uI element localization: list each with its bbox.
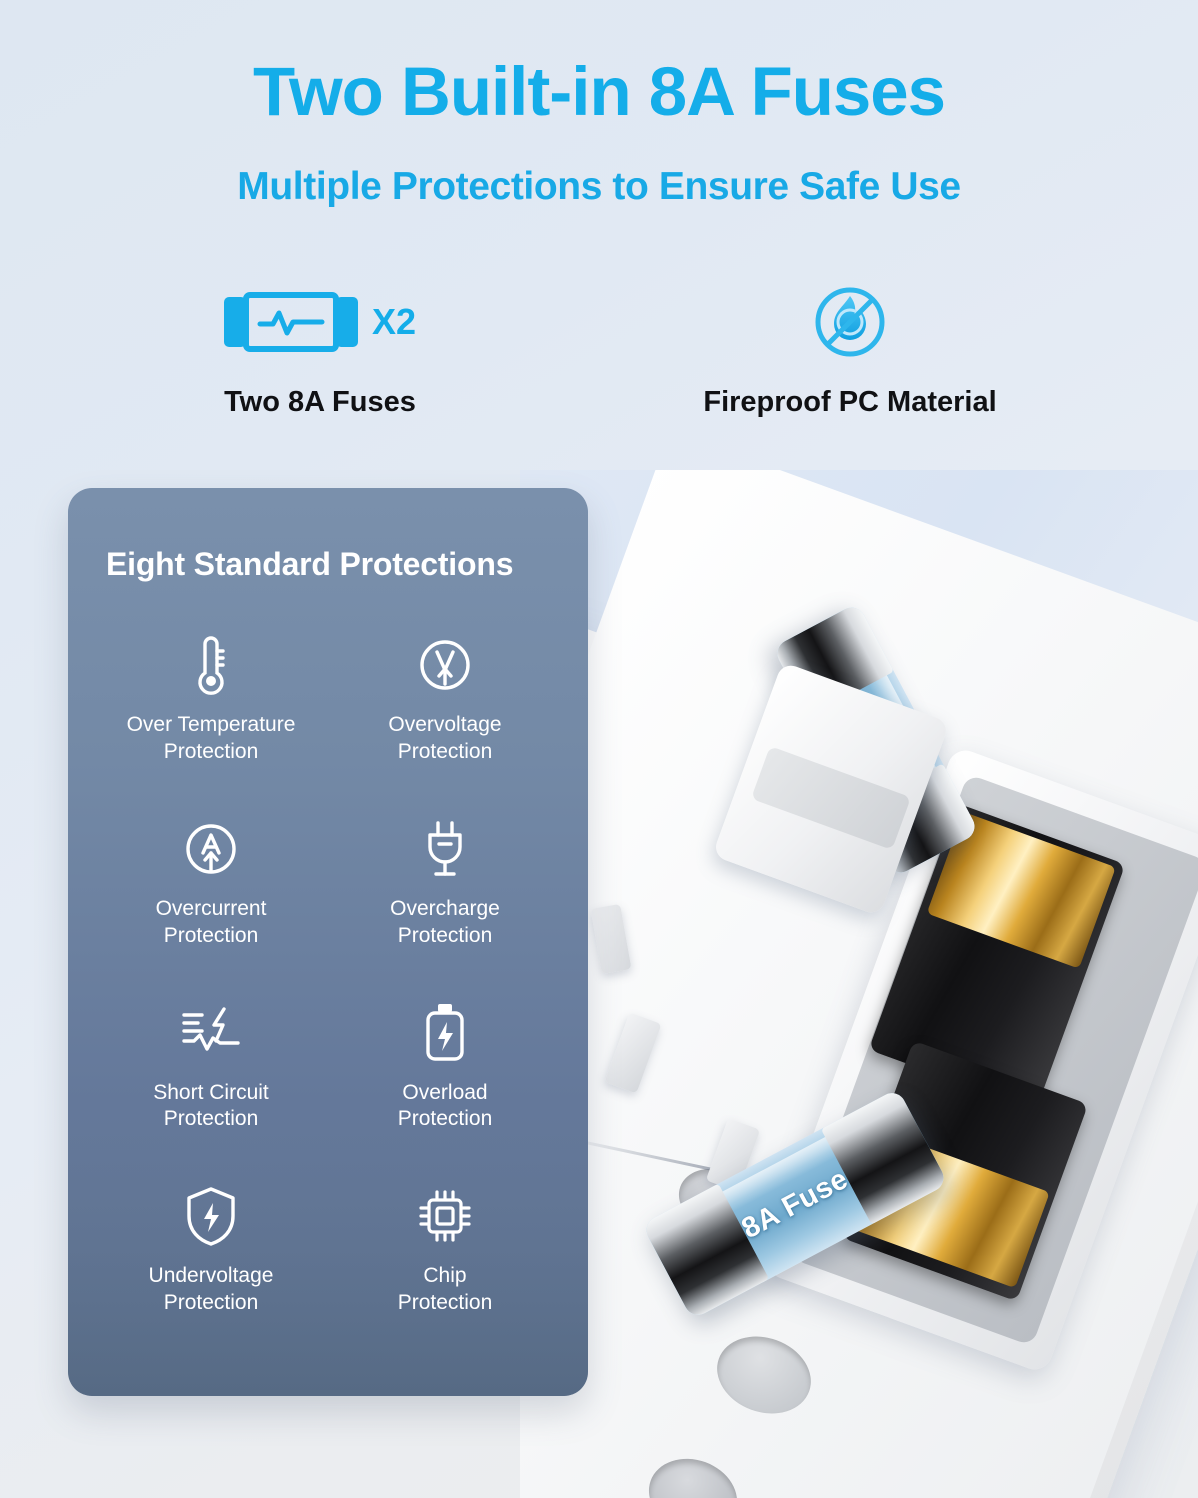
feature-label: Two 8A Fuses bbox=[0, 386, 640, 419]
protection-item-overcharge: Overcharge Protection bbox=[328, 812, 562, 950]
feature-fireproof: Fireproof PC Material bbox=[640, 276, 1060, 419]
page-title: Two Built-in 8A Fuses bbox=[0, 52, 1198, 131]
protection-item-undervoltage: Undervoltage Protection bbox=[94, 1179, 328, 1317]
protection-label: Over Temperature Protection bbox=[94, 712, 328, 766]
short-circuit-icon bbox=[178, 1005, 244, 1061]
protection-item-over-temperature: Over Temperature Protection bbox=[94, 628, 328, 766]
fuse-multiplier: X2 bbox=[372, 301, 416, 343]
feature-label: Fireproof PC Material bbox=[640, 386, 1060, 419]
infographic-stage: 8A Fuse 8A Fuse Two Built-in 8A Fuses Mu… bbox=[0, 0, 1198, 1498]
protection-label: Chip Protection bbox=[328, 1263, 562, 1317]
protections-grid: Over Temperature Protection Overvoltage … bbox=[94, 628, 562, 1317]
feature-row: X2 Two 8A Fuses bbox=[0, 276, 1060, 419]
power-plug-icon bbox=[418, 817, 472, 881]
protection-item-short-circuit: Short Circuit Protection bbox=[94, 996, 328, 1134]
protections-panel: Eight Standard Protections Over Tempe bbox=[68, 488, 588, 1396]
protection-item-overvoltage: Overvoltage Protection bbox=[328, 628, 562, 766]
protection-item-chip: Chip Protection bbox=[328, 1179, 562, 1317]
protections-panel-title: Eight Standard Protections bbox=[106, 546, 513, 583]
product-photo: 8A Fuse 8A Fuse bbox=[520, 470, 1198, 1498]
shield-bolt-icon bbox=[183, 1185, 239, 1247]
protection-label: Overload Protection bbox=[328, 1080, 562, 1134]
voltage-up-icon bbox=[416, 636, 474, 694]
ampere-up-icon bbox=[182, 820, 240, 878]
protection-label: Overcharge Protection bbox=[328, 896, 562, 950]
no-fire-icon bbox=[804, 276, 896, 368]
fuse-icon bbox=[224, 291, 358, 353]
protection-label: Overcurrent Protection bbox=[94, 896, 328, 950]
protection-label: Short Circuit Protection bbox=[94, 1080, 328, 1134]
battery-bolt-icon bbox=[420, 1001, 470, 1065]
protection-label: Overvoltage Protection bbox=[328, 712, 562, 766]
protection-label: Undervoltage Protection bbox=[94, 1263, 328, 1317]
protection-item-overload: Overload Protection bbox=[328, 996, 562, 1134]
protection-item-overcurrent: Overcurrent Protection bbox=[94, 812, 328, 950]
feature-two-fuses: X2 Two 8A Fuses bbox=[0, 276, 640, 419]
thermometer-icon bbox=[184, 633, 238, 697]
chip-icon bbox=[415, 1186, 475, 1246]
page-subtitle: Multiple Protections to Ensure Safe Use bbox=[0, 165, 1198, 209]
